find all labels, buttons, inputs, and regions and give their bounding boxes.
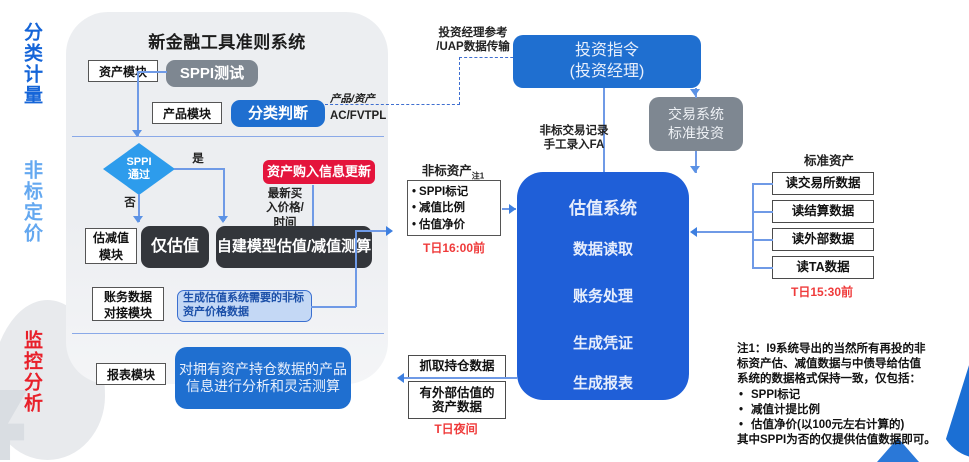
label-buy-info-2: 入价格/: [266, 202, 304, 214]
section-divider-2: [72, 333, 384, 334]
connector-std-1: [752, 183, 773, 185]
label-buy-info-1: 最新买: [268, 188, 303, 200]
connector-asset-to-diamond: [137, 71, 139, 136]
label-buy-info: 最新买 入价格/ 时间: [262, 187, 308, 230]
valuation-line-2: 生成凭证: [517, 332, 689, 353]
label-dashed-note: 投资经理参考 /UAP数据传输: [420, 26, 526, 55]
tag-accounting-module: 账务数据 对接模块: [92, 287, 164, 321]
dashed-vertical-up: [459, 57, 460, 105]
valuation-title: 估值系统: [517, 194, 689, 219]
label-nonstd-deadline: T日16:00前: [407, 239, 501, 256]
panel-title: 新金融工具准则系统: [66, 28, 388, 53]
tag-impairment-line2: 模块: [99, 248, 123, 262]
list-item: •估值净价: [412, 217, 496, 233]
arrowhead-nonstd-valuation: [509, 204, 516, 214]
label-invest-order-2: (投资经理): [570, 63, 645, 80]
external-line-1: 有外部估值的: [419, 386, 494, 400]
decision-sppi-line2: 通过: [128, 169, 150, 181]
dashed-classify-out: [325, 104, 460, 105]
arrowhead-no: [133, 216, 143, 223]
connector-yes-horizontal: [174, 168, 224, 170]
tag-report-module: 报表模块: [96, 363, 166, 385]
valuation-line-3: 生成报表: [517, 372, 689, 393]
label-trading-system-2: 标准投资: [668, 125, 724, 141]
label-invest-order-1: 投资指令: [575, 42, 639, 59]
tag-impairment-line1: 估减值: [93, 231, 129, 245]
list-item: SPPI标记: [751, 388, 963, 403]
connector-price-up: [355, 230, 357, 307]
label-trading-system-1: 交易系统: [668, 106, 724, 122]
tag-impairment-module: 估减值 模块: [85, 228, 137, 264]
label-manual-entry: 非标交易记录 手工录入FA: [519, 124, 629, 153]
footnote-tail: 其中SPPI为否的仅提供估值数据即可。: [737, 433, 963, 448]
external-line-2: 资产数据: [432, 400, 482, 414]
diagram-canvas: 分类计量 非标定价 监控分析 新金融工具准则系统 资产模块 SPPI测试 产品模…: [0, 0, 969, 457]
connector-std-bracket: [752, 183, 754, 268]
arrowhead-trading-down: [690, 166, 700, 173]
connector-price-right: [311, 306, 356, 308]
box-trading-system[interactable]: 交易系统 标准投资: [649, 97, 743, 151]
list-item: 减值计提比例: [751, 403, 963, 418]
list-item: •SPPI标记: [412, 184, 496, 200]
arrowhead-to-diamond: [132, 130, 142, 137]
valuation-line-1: 账务处理: [517, 285, 689, 306]
box-sppi-test[interactable]: SPPI测试: [166, 60, 258, 87]
arrowhead-std-valuation: [690, 227, 697, 237]
footnote-line-2: 标资产估、减值数据与中债导给估值: [737, 357, 963, 372]
label-standard-deadline: T日15:30前: [772, 283, 872, 300]
label-standard-assets-header: 标准资产: [781, 154, 877, 170]
valuation-line-0: 数据读取: [517, 238, 689, 259]
footnote-line-3: 系统的数据格式保持一致，仅包括：: [737, 372, 963, 387]
footnote-bullets: SPPI标记 减值计提比例 估值净价(以100元左右计算的): [737, 388, 963, 434]
nonstd-item-0: SPPI标记: [419, 186, 468, 198]
connector-purchase-down: [312, 185, 314, 230]
decision-sppi-line1: SPPI: [126, 156, 151, 168]
list-item: 估值净价(以100元左右计算的): [751, 418, 963, 433]
connector-std-to-valuation: [697, 231, 753, 233]
box-report-analysis[interactable]: 对拥有资产持仓数据的产品信息进行分析和灵活测算: [175, 347, 351, 409]
label-nonstd-header: 非标资产注1: [405, 164, 501, 182]
box-fetch-position-data[interactable]: 抓取持仓数据: [408, 355, 506, 378]
box-self-built-model[interactable]: 自建模型估值/减值测算: [216, 226, 372, 268]
list-nonstd-asset: •SPPI标记 •减值比例 •估值净价: [407, 180, 501, 236]
footnote-line-1: 注1：I9系统导出的当然所有再投的非: [737, 342, 963, 357]
arrowhead-trading: [690, 89, 700, 96]
label-manual-entry-2: 手工录入FA: [544, 139, 605, 151]
label-classify-output-2: AC/FVTPL: [330, 109, 410, 123]
label-manual-entry-1: 非标交易记录: [540, 125, 609, 137]
rail-label-monitoring-analysis: 监控分析: [8, 330, 42, 414]
connector-std-3: [752, 239, 773, 241]
box-asset-purchase-update[interactable]: 资产购入信息更新: [263, 160, 375, 184]
box-read-ta-data[interactable]: 读TA数据: [772, 256, 874, 279]
box-valuation-system[interactable]: 估值系统 数据读取 账务处理 生成凭证 生成报表: [517, 172, 689, 400]
rail-label-nonstandard-pricing: 非标定价: [8, 160, 42, 244]
nonstd-item-1: 减值比例: [419, 202, 465, 214]
connector-asset-horizontal: [137, 71, 167, 73]
box-generate-price-data[interactable]: 生成估值系统需要的非标资产价格数据: [177, 290, 312, 322]
list-item: •减值比例: [412, 200, 496, 216]
tag-accounting-line1: 账务数据: [104, 290, 152, 304]
arrowhead-outputs: [397, 373, 404, 383]
tag-accounting-line2: 对接模块: [104, 306, 152, 320]
label-branch-yes: 是: [186, 152, 210, 166]
box-read-exchange-data[interactable]: 读交易所数据: [772, 172, 874, 195]
left-rail: 分类计量 非标定价 监控分析: [0, 0, 50, 457]
label-dashed-note-1: 投资经理参考: [439, 27, 508, 39]
box-invest-order[interactable]: 投资指令 (投资经理): [513, 35, 701, 88]
connector-std-2: [752, 211, 773, 213]
nonstd-item-2: 估值净价: [419, 219, 465, 231]
connector-std-4: [752, 267, 773, 269]
arrowhead-yes: [218, 216, 228, 223]
footnote-block: 注1：I9系统导出的当然所有再投的非 标资产估、减值数据与中债导给估值 系统的数…: [737, 342, 963, 448]
section-divider-1: [72, 136, 384, 137]
box-only-valuation[interactable]: 仅估值: [141, 226, 209, 268]
rail-label-classification: 分类计量: [8, 22, 42, 106]
label-dashed-note-2: /UAP数据传输: [436, 41, 509, 53]
label-night-time: T日夜间: [408, 420, 504, 437]
connector-valuation-to-outputs: [402, 377, 517, 379]
box-classify-decision[interactable]: 分类判断: [231, 100, 325, 127]
connector-price-to-nonstd: [355, 230, 387, 232]
connector-yes-vertical: [223, 168, 225, 221]
arrowhead-to-nonstd: [386, 226, 393, 236]
label-nonstd-header-text: 非标资产: [422, 164, 472, 178]
tag-product-module: 产品模块: [152, 102, 222, 124]
box-read-external-data[interactable]: 读外部数据: [772, 228, 874, 251]
box-external-valuation-data[interactable]: 有外部估值的 资产数据: [408, 381, 506, 419]
box-read-settlement-data[interactable]: 读结算数据: [772, 200, 874, 223]
